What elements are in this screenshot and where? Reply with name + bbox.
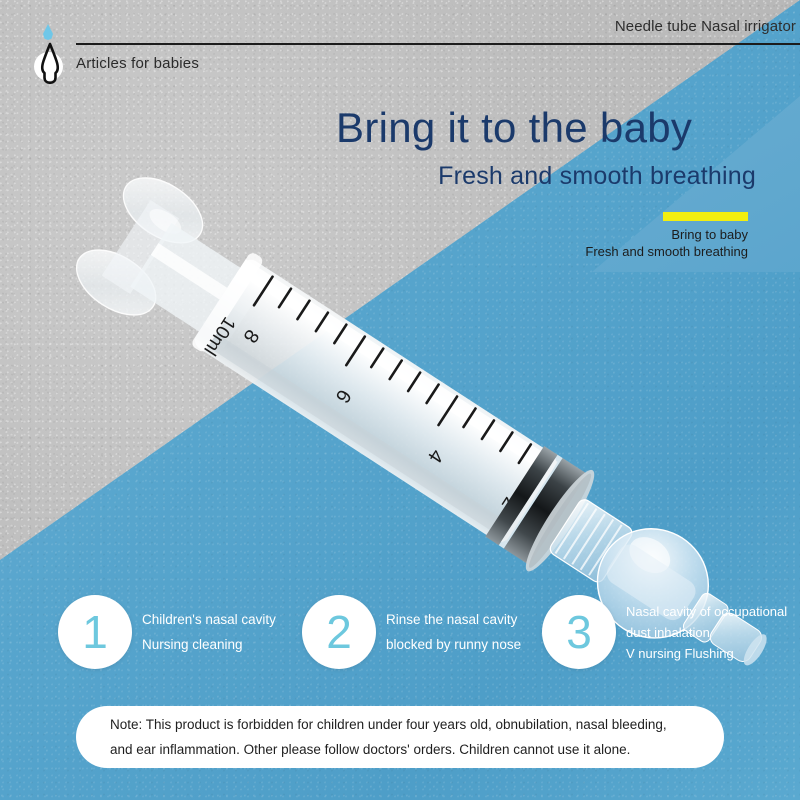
step-number-badge: 1 bbox=[58, 595, 132, 669]
page-title: Bring it to the baby bbox=[336, 104, 756, 152]
step-item-3[interactable]: 3 Nasal cavity of occupational dust inha… bbox=[542, 586, 787, 678]
accent-bar bbox=[663, 212, 748, 221]
hero-mini-line-2: Fresh and smooth breathing bbox=[500, 243, 748, 260]
step-line: V nursing Flushing bbox=[626, 643, 787, 664]
step-line: Nasal cavity of occupational bbox=[626, 601, 787, 622]
brand-logo bbox=[26, 24, 70, 86]
step-number-badge: 3 bbox=[542, 595, 616, 669]
disclaimer-note: Note: This product is forbidden for chil… bbox=[76, 706, 724, 768]
note-line-1: Note: This product is forbidden for chil… bbox=[110, 712, 690, 737]
water-drop-icon bbox=[43, 24, 53, 40]
brand-label: Articles for babies bbox=[76, 55, 199, 72]
step-item-2[interactable]: 2 Rinse the nasal cavity blocked by runn… bbox=[302, 586, 521, 678]
step-line: blocked by runny nose bbox=[386, 632, 521, 657]
step-item-1[interactable]: 1 Children's nasal cavity Nursing cleani… bbox=[58, 586, 276, 678]
hero-mini-line-1: Bring to baby bbox=[500, 226, 748, 243]
nose-icon bbox=[30, 40, 70, 86]
step-line: Rinse the nasal cavity bbox=[386, 607, 521, 632]
step-line: Children's nasal cavity bbox=[142, 607, 276, 632]
advertisement-page: Articles for babies Needle tube Nasal ir… bbox=[0, 0, 800, 800]
step-line: Nursing cleaning bbox=[142, 632, 276, 657]
steps-row: 1 Children's nasal cavity Nursing cleani… bbox=[0, 586, 800, 678]
step-description: Rinse the nasal cavity blocked by runny … bbox=[386, 607, 521, 657]
step-line: dust inhalation bbox=[626, 622, 787, 643]
page-subtitle: Fresh and smooth breathing bbox=[336, 162, 756, 191]
hero-mini-caption: Bring to baby Fresh and smooth breathing bbox=[500, 226, 748, 260]
note-line-2: and ear inflammation. Other please follo… bbox=[110, 737, 690, 762]
step-description: Children's nasal cavity Nursing cleaning bbox=[142, 607, 276, 657]
product-kicker: Needle tube Nasal irrigator bbox=[615, 18, 796, 35]
step-description: Nasal cavity of occupational dust inhala… bbox=[626, 601, 787, 664]
step-number-badge: 2 bbox=[302, 595, 376, 669]
header-rule bbox=[76, 43, 800, 45]
